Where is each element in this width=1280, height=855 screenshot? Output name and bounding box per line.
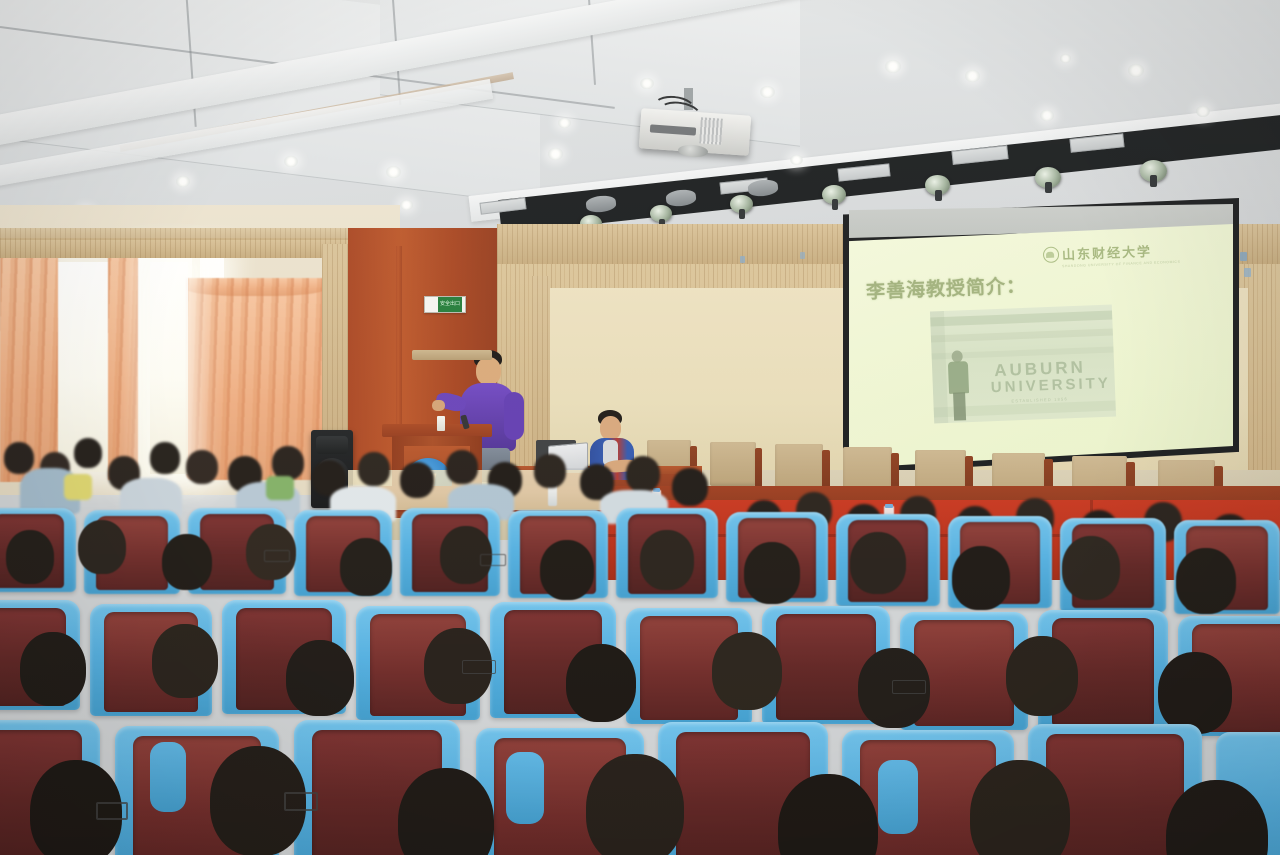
audience-head xyxy=(398,768,494,855)
seat-armrest xyxy=(150,742,186,812)
ceiling-downlight xyxy=(1060,54,1071,63)
podium-overhead-beam xyxy=(412,350,492,360)
audience-head xyxy=(272,446,304,480)
ceiling-downlight xyxy=(790,155,803,165)
audience-head xyxy=(970,760,1070,855)
university-logo-mark xyxy=(1043,246,1060,263)
photo-person-body xyxy=(948,361,969,394)
audience-head xyxy=(586,754,684,855)
ceiling-downlight xyxy=(640,78,654,89)
ceiling-downlight xyxy=(176,176,190,187)
wall-fixture xyxy=(740,256,745,263)
photo-sign-line2: UNIVERSITY xyxy=(991,375,1112,397)
seat-armrest xyxy=(506,752,544,824)
photo-band xyxy=(931,329,1113,343)
presenter-head xyxy=(476,357,501,385)
ceiling-downlight xyxy=(548,148,563,160)
audience-head xyxy=(6,530,54,584)
audience-head xyxy=(152,624,218,698)
ceiling-downlight xyxy=(760,86,775,98)
presenter-hand xyxy=(432,400,445,411)
audience-head xyxy=(74,438,102,468)
university-logo-text: 山东财经大学 xyxy=(1062,241,1153,263)
wall-wood-trim xyxy=(0,228,400,240)
ceiling-downlight xyxy=(1040,110,1054,121)
ceiling-downlight xyxy=(885,60,901,73)
lecture-hall-photo: 安全出口 山东财经大学 SHANDONG UNIVERSITY OF FINAN… xyxy=(0,0,1280,855)
stage-spotlight-body xyxy=(1045,182,1052,193)
photo-band xyxy=(930,311,1112,327)
slide-embedded-photo: AUBURN UNIVERSITY ESTABLISHED 1856 xyxy=(930,305,1116,424)
audience-head xyxy=(186,450,218,484)
audience-head xyxy=(626,456,660,492)
audience-head xyxy=(4,442,34,474)
exit-sign-text: 安全出口 xyxy=(438,297,462,312)
stage-spotlight-body xyxy=(739,209,745,219)
audience-row-foreground xyxy=(0,706,1280,855)
stage-spotlight-body xyxy=(1150,175,1157,187)
audience-head xyxy=(778,774,878,855)
audience-head xyxy=(1166,780,1268,855)
stage-spotlight-body xyxy=(832,199,838,210)
photo-building-edge xyxy=(930,311,948,423)
ceiling-downlight xyxy=(1128,64,1144,77)
water-bottle xyxy=(437,416,445,431)
presenter-arm-right xyxy=(504,392,524,440)
audience-head xyxy=(358,452,390,486)
ceiling-downlight xyxy=(386,166,401,178)
photo-person xyxy=(945,350,974,421)
audience-head xyxy=(150,442,180,474)
eyeglasses xyxy=(462,660,496,674)
audience-head xyxy=(446,450,478,484)
ceiling-downlight xyxy=(284,156,298,167)
eyeglasses xyxy=(284,792,318,811)
seat-armrest xyxy=(878,760,918,834)
audience-head xyxy=(78,520,126,574)
stage-spotlight-body xyxy=(935,190,942,201)
wall-fixture xyxy=(1244,268,1251,277)
ceiling-downlight xyxy=(558,118,571,128)
eyeglasses xyxy=(480,554,506,566)
ceiling-downlight xyxy=(1196,106,1210,117)
eyeglasses xyxy=(96,802,128,820)
wall-fixture xyxy=(1240,252,1247,261)
projector-vent xyxy=(699,117,723,144)
audience-head xyxy=(534,454,566,488)
photo-person-legs xyxy=(953,392,966,420)
emergency-exit-sign: 安全出口 xyxy=(424,296,466,313)
eyeglasses xyxy=(264,550,290,562)
wall-fixture xyxy=(800,252,805,259)
ceiling-downlight xyxy=(400,200,413,210)
window-curtain-valance xyxy=(186,278,326,296)
ceiling-downlight xyxy=(965,70,980,82)
